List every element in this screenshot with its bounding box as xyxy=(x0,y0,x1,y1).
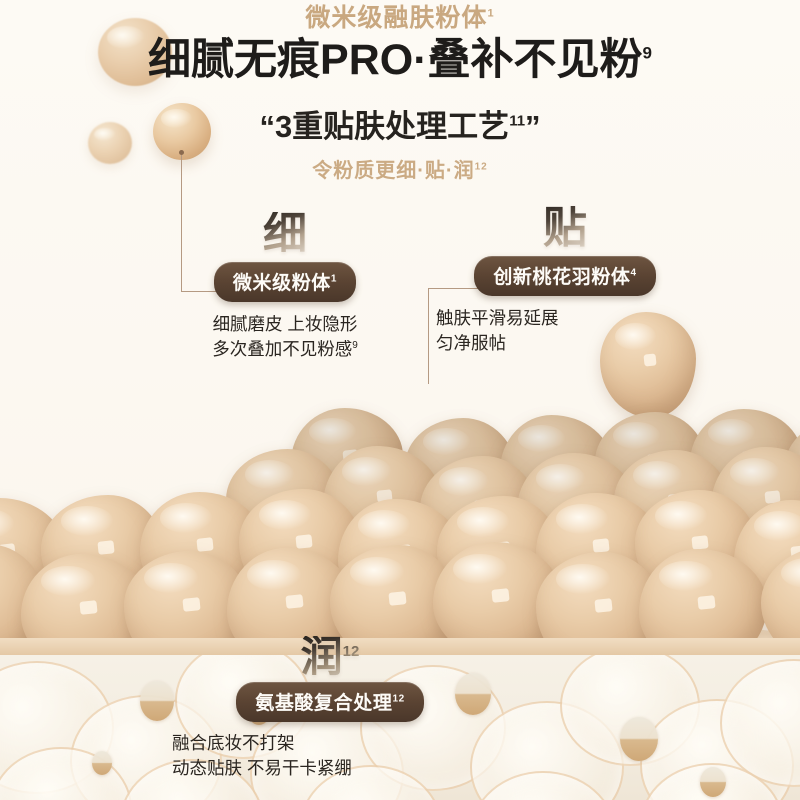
main-title-footnote: 9 xyxy=(643,43,652,62)
feature-desc-line1: 细腻磨皮 上妆隐形 xyxy=(150,312,420,337)
kicker-text: 微米级融肤粉体1 xyxy=(0,4,800,33)
gel-droplet xyxy=(620,717,658,761)
main-title: 细腻无痕PRO·叠补不见粉9 xyxy=(0,35,800,86)
product-infographic: 微米级融肤粉体1 细腻无痕PRO·叠补不见粉9 “3重贴肤处理工艺11” 令粉质… xyxy=(0,0,800,800)
sub-title-quote-close: ” xyxy=(525,109,541,144)
feature-block-run: 润12 氨基酸复合处理12 融合底妆不打架 动态贴肤 不易干卡紧绷 xyxy=(120,636,540,781)
feature-desc-xi: 细腻磨皮 上妆隐形 多次叠加不见粉感9 xyxy=(150,312,420,362)
feature-block-xi: 细 微米级粉体1 细腻磨皮 上妆隐形 多次叠加不见粉感9 xyxy=(150,212,420,362)
sub-title-footnote: 11 xyxy=(509,113,525,130)
sub-title: “3重贴肤处理工艺11” xyxy=(0,101,800,146)
feature-pill-label: 氨基酸复合处理 xyxy=(255,693,392,714)
feature-pill-tie[interactable]: 创新桃花羽粉体4 xyxy=(474,256,655,296)
feature-big-char-xi: 细 xyxy=(263,212,307,256)
feature-pill-label: 创新桃花羽粉体 xyxy=(493,267,630,288)
kicker-label: 微米级融肤粉体 xyxy=(305,4,487,32)
feature-desc-footnote: 9 xyxy=(352,340,358,351)
feature-big-char-label: 润 xyxy=(301,633,343,680)
feature-pill-footnote: 12 xyxy=(392,694,404,705)
feature-pill-run[interactable]: 氨基酸复合处理12 xyxy=(236,682,424,722)
feature-desc-line2: 动态贴肤 不易干卡紧绷 xyxy=(172,756,540,781)
headline-block: 微米级融肤粉体1 细腻无痕PRO·叠补不见粉9 “3重贴肤处理工艺11” 令粉质… xyxy=(0,4,800,183)
tagline-footnote: 12 xyxy=(475,162,488,173)
feature-big-char-tie: 贴 xyxy=(543,206,587,250)
feature-big-char-run: 润12 xyxy=(301,636,360,678)
tagline: 令粉质更细·贴·润12 xyxy=(0,154,800,183)
gel-droplet xyxy=(92,751,112,775)
foundation-bead-field xyxy=(0,398,800,638)
feature-big-char-label: 细 xyxy=(263,209,307,258)
feature-pill-label: 微米级粉体 xyxy=(233,273,331,294)
feature-desc-line2: 多次叠加不见粉感 xyxy=(212,339,352,359)
feature-pill-footnote: 4 xyxy=(631,268,637,279)
feature-desc-line1: 融合底妆不打架 xyxy=(172,731,540,756)
main-title-label: 细腻无痕PRO·叠补不见粉 xyxy=(148,36,643,84)
tagline-label: 令粉质更细·贴·润 xyxy=(312,160,474,182)
feature-big-char-footnote: 12 xyxy=(343,643,360,660)
feature-pill-footnote: 1 xyxy=(331,274,337,285)
gel-droplet xyxy=(700,767,726,797)
kicker-footnote: 1 xyxy=(487,8,494,20)
feature-big-char-label: 贴 xyxy=(543,203,587,252)
feature-desc-run: 融合底妆不打架 动态贴肤 不易干卡紧绷 xyxy=(120,731,540,781)
feature-pill-xi[interactable]: 微米级粉体1 xyxy=(214,262,356,302)
sub-title-label: “3重贴肤处理工艺 xyxy=(259,109,509,144)
